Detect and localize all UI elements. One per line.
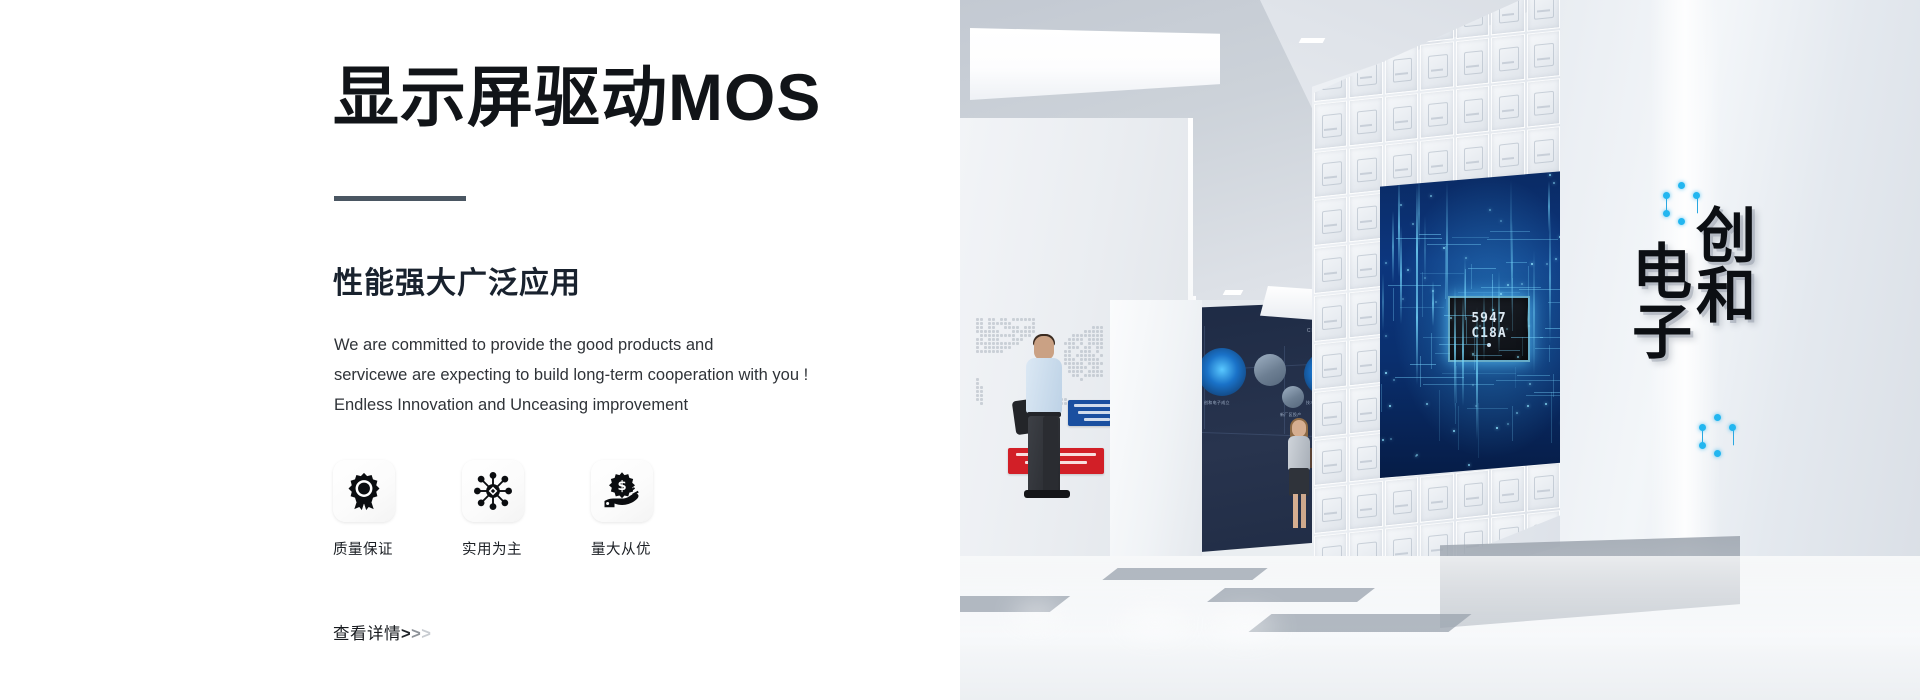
relief-tile bbox=[1349, 193, 1382, 243]
timeline-medallion-chip bbox=[1198, 348, 1246, 396]
dress-shirt bbox=[1026, 358, 1062, 414]
leg bbox=[1301, 494, 1306, 528]
floor-reflection bbox=[1110, 596, 1200, 648]
description-line-1: We are committed to provide the good pro… bbox=[334, 330, 894, 360]
floor-inlay-strip bbox=[1102, 568, 1267, 580]
title-divider bbox=[334, 196, 466, 201]
view-details-link[interactable]: 查看详情>>> bbox=[333, 620, 431, 644]
relief-tile bbox=[1491, 466, 1524, 516]
trousers-back-leg bbox=[1043, 416, 1058, 494]
feature-label: 实用为主 bbox=[462, 538, 534, 559]
relief-tile bbox=[1314, 436, 1347, 486]
relief-tile bbox=[1420, 41, 1453, 91]
relief-tile bbox=[1314, 244, 1347, 294]
relief-tile bbox=[1349, 145, 1382, 195]
view-details-label: 查看详情 bbox=[333, 625, 401, 643]
relief-tile bbox=[1314, 484, 1347, 534]
wall-sign-line-2: 电子 bbox=[1628, 240, 1686, 360]
feature-list: 质量保证 bbox=[333, 460, 663, 559]
award-badge-icon bbox=[344, 471, 384, 511]
relief-tile bbox=[1456, 470, 1489, 520]
relief-tile bbox=[1527, 30, 1560, 80]
chip-graphic: 5947 C18A bbox=[1448, 296, 1530, 362]
relief-tile bbox=[1527, 78, 1560, 128]
relief-tile bbox=[1456, 38, 1489, 88]
floor-inlay-strip bbox=[1207, 588, 1375, 602]
head bbox=[1034, 336, 1054, 360]
feature-label: 量大从优 bbox=[591, 538, 663, 559]
network-hub-icon bbox=[473, 471, 513, 511]
svg-text:$: $ bbox=[617, 479, 626, 494]
chevron-right-icon-2: > bbox=[411, 625, 421, 643]
relief-tile bbox=[1349, 385, 1382, 435]
wall-sign-line-1: 创和 bbox=[1692, 204, 1750, 324]
left-text-panel: 显示屏驱动MOS 性能强大广泛应用 We are committed to pr… bbox=[0, 0, 960, 700]
showroom-photo: RIZ CHANGE YOUR LIFE 创和电子成立 技术研发中心 新厂区投产 bbox=[960, 0, 1920, 700]
relief-tile bbox=[1420, 137, 1453, 187]
relief-tile bbox=[1314, 340, 1347, 390]
relief-tile bbox=[1385, 141, 1418, 191]
relief-tile bbox=[1349, 433, 1382, 483]
relief-tile bbox=[1349, 241, 1382, 291]
description-paragraph: We are committed to provide the good pro… bbox=[334, 330, 894, 420]
timeline-medallion bbox=[1254, 354, 1286, 386]
relief-tile bbox=[1527, 462, 1560, 512]
relief-tile bbox=[1527, 0, 1560, 32]
feature-icon-card bbox=[462, 460, 524, 522]
relief-tile bbox=[1349, 289, 1382, 339]
page-title: 显示屏驱动MOS bbox=[333, 62, 821, 133]
relief-tile bbox=[1527, 126, 1560, 176]
relief-tile bbox=[1456, 86, 1489, 136]
money-in-hand-icon: $ bbox=[602, 471, 642, 511]
relief-tile bbox=[1349, 481, 1382, 531]
feature-icon-card bbox=[333, 460, 395, 522]
relief-tile bbox=[1349, 97, 1382, 147]
relief-tile bbox=[1456, 134, 1489, 184]
skirt bbox=[1289, 468, 1309, 496]
relief-tile bbox=[1420, 473, 1453, 523]
head bbox=[1292, 420, 1306, 437]
description-line-2: servicewe are expecting to build long-te… bbox=[334, 360, 894, 390]
front-white-column bbox=[1110, 300, 1202, 600]
relief-tile bbox=[1491, 82, 1524, 132]
relief-tile bbox=[1385, 93, 1418, 143]
feature-item-bulk-discount[interactable]: $ 量大从优 bbox=[591, 460, 663, 559]
person-businessman bbox=[1018, 336, 1074, 502]
floor-reflection bbox=[1002, 592, 1072, 636]
feature-icon-card: $ bbox=[591, 460, 653, 522]
feature-item-practical[interactable]: 实用为主 bbox=[462, 460, 534, 559]
page-subtitle: 性能强大广泛应用 bbox=[333, 258, 581, 302]
hero-banner: 显示屏驱动MOS 性能强大广泛应用 We are committed to pr… bbox=[0, 0, 1920, 700]
chevron-right-icon-3: > bbox=[421, 625, 431, 643]
relief-tile bbox=[1314, 292, 1347, 342]
blouse bbox=[1288, 436, 1310, 470]
relief-tile bbox=[1314, 196, 1347, 246]
floor-reflection bbox=[1200, 600, 1290, 652]
relief-tile bbox=[1491, 130, 1524, 180]
relief-tile bbox=[1420, 89, 1453, 139]
downlight-fixture bbox=[1223, 290, 1244, 295]
feature-item-quality[interactable]: 质量保证 bbox=[333, 460, 405, 559]
timeline-medallion bbox=[1282, 386, 1304, 408]
relief-tile bbox=[1314, 100, 1347, 150]
relief-tile bbox=[1314, 388, 1347, 438]
description-line-3: Endless Innovation and Unceasing improve… bbox=[334, 390, 894, 420]
relief-tile bbox=[1314, 148, 1347, 198]
relief-tile bbox=[1349, 337, 1382, 387]
relief-tile bbox=[1385, 477, 1418, 527]
downlight-fixture bbox=[1299, 38, 1326, 43]
relief-tile bbox=[1491, 34, 1524, 84]
leg bbox=[1293, 494, 1298, 528]
chevron-right-icon-1: > bbox=[401, 625, 411, 643]
feature-label: 质量保证 bbox=[333, 538, 405, 559]
shoe bbox=[1044, 490, 1070, 498]
